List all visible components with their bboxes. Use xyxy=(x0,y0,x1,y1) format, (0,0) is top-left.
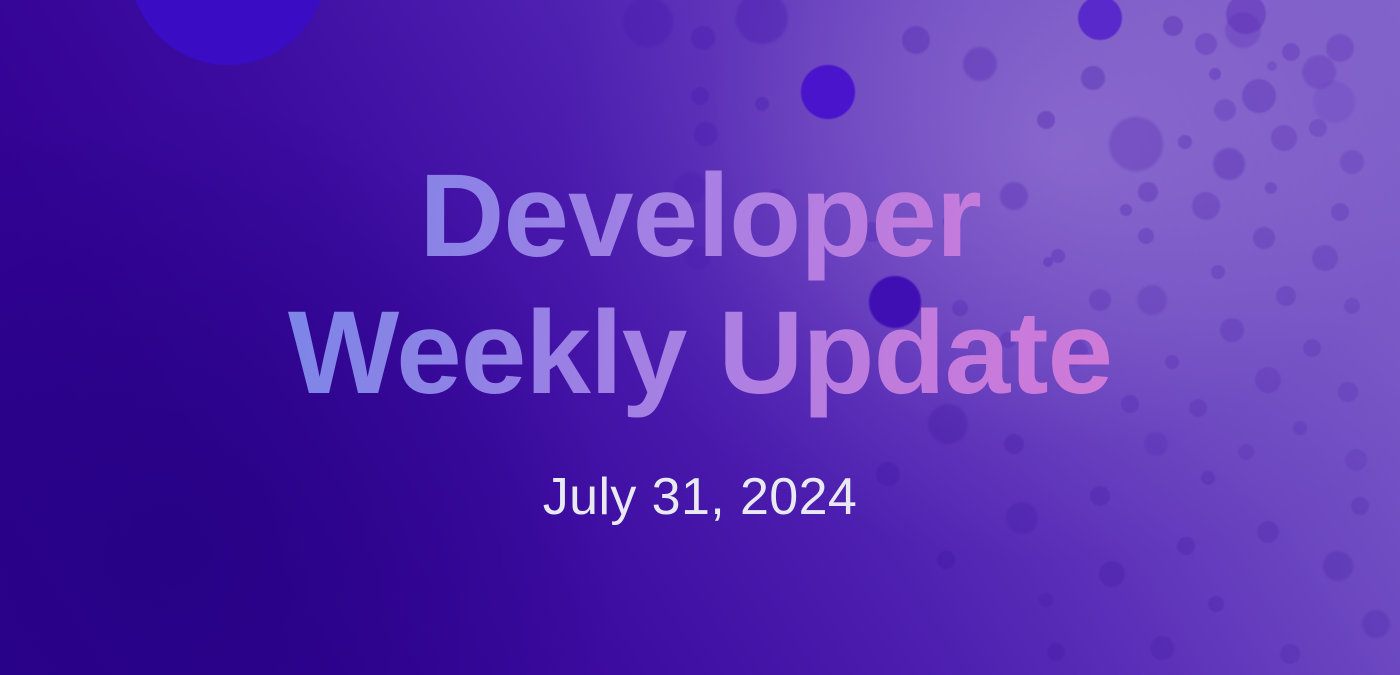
developer-weekly-update-banner: Developer Weekly Update July 31, 2024 xyxy=(0,0,1400,675)
banner-content: Developer Weekly Update July 31, 2024 xyxy=(0,0,1400,675)
headline-line-2: Weekly Update xyxy=(288,285,1112,422)
banner-headline: Developer Weekly Update xyxy=(282,148,1118,428)
headline-line-1: Developer xyxy=(288,148,1112,285)
banner-date: July 31, 2024 xyxy=(543,467,858,527)
